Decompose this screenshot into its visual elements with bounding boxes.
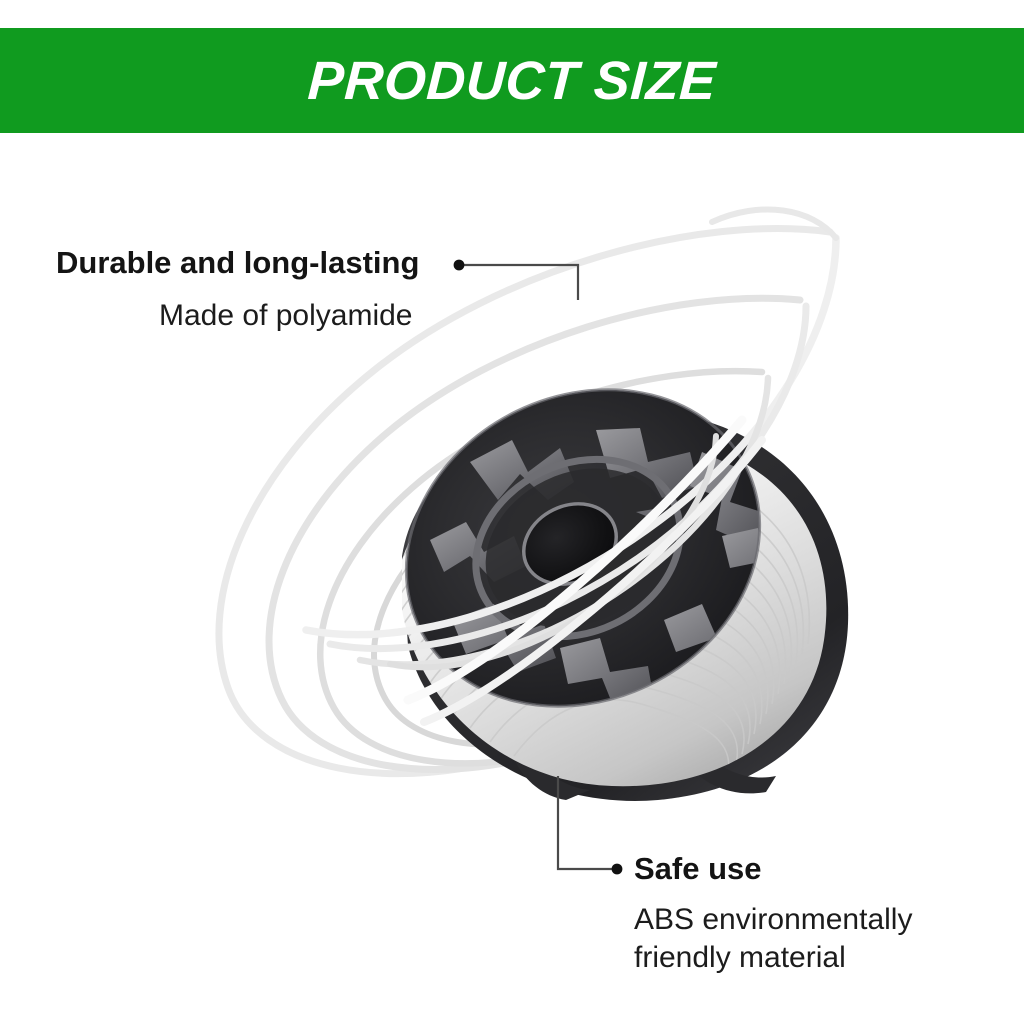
product-illustration xyxy=(0,0,1024,1024)
callout-title-durable: Durable and long-lasting xyxy=(56,247,419,280)
callout-title-safe-use: Safe use xyxy=(634,853,762,886)
infographic-page: PRODUCT SIZE xyxy=(0,0,1024,1024)
callout-subtitle-safe-use: ABS environmentally friendly material xyxy=(634,901,912,978)
callout-subtitle-durable: Made of polyamide xyxy=(159,297,412,335)
